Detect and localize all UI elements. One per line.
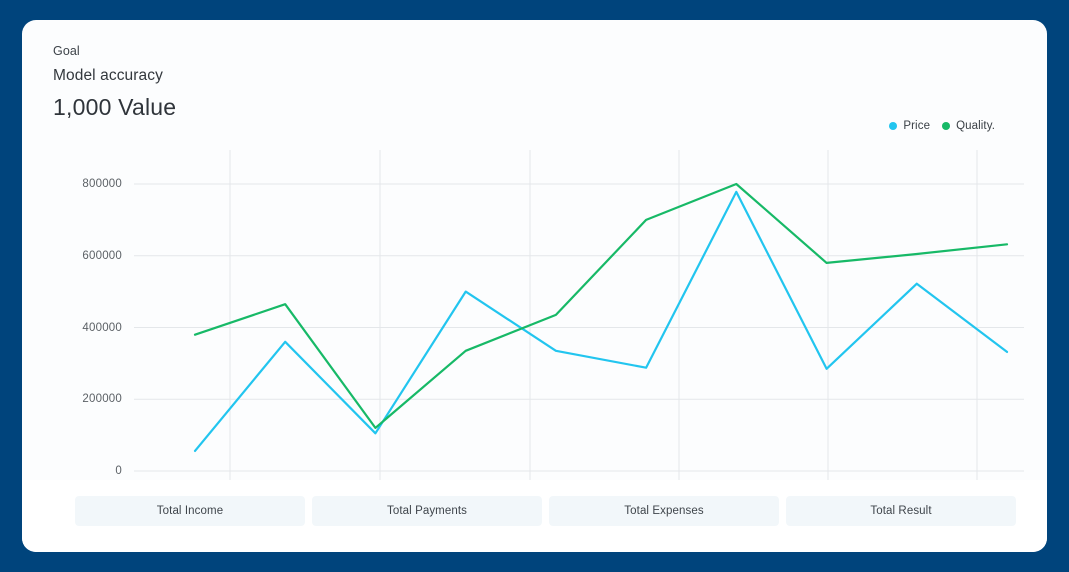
line-series-quality [195, 184, 1007, 428]
legend-item-quality[interactable]: Quality. [942, 120, 995, 132]
footer-button-row: Total IncomeTotal PaymentsTotal Expenses… [75, 496, 1016, 526]
footer-button-total-result[interactable]: Total Result [786, 496, 1016, 526]
footer-button-total-expenses[interactable]: Total Expenses [549, 496, 779, 526]
goal-label: Goal [53, 43, 176, 59]
footer-button-total-payments[interactable]: Total Payments [312, 496, 542, 526]
app-window: Goal Model accuracy 1,000 Value PriceQua… [0, 0, 1069, 572]
dashboard-card: Goal Model accuracy 1,000 Value PriceQua… [22, 20, 1047, 552]
line-chart-svg [22, 150, 1047, 510]
metric-value: 1,000 Value [53, 92, 176, 122]
footer-button-total-income[interactable]: Total Income [75, 496, 305, 526]
line-series-price [195, 192, 1007, 451]
chart-footer: Total IncomeTotal PaymentsTotal Expenses… [22, 480, 1047, 552]
chart-plot-area: 0200000400000600000800000 [22, 150, 1047, 510]
chart-legend: PriceQuality. [889, 120, 995, 132]
chart-header: Goal Model accuracy 1,000 Value [53, 43, 176, 122]
legend-item-price[interactable]: Price [889, 120, 930, 132]
page-title: Model accuracy [53, 65, 176, 87]
legend-label: Quality. [956, 120, 995, 132]
legend-dot-icon [889, 122, 897, 130]
legend-label: Price [903, 120, 930, 132]
legend-dot-icon [942, 122, 950, 130]
